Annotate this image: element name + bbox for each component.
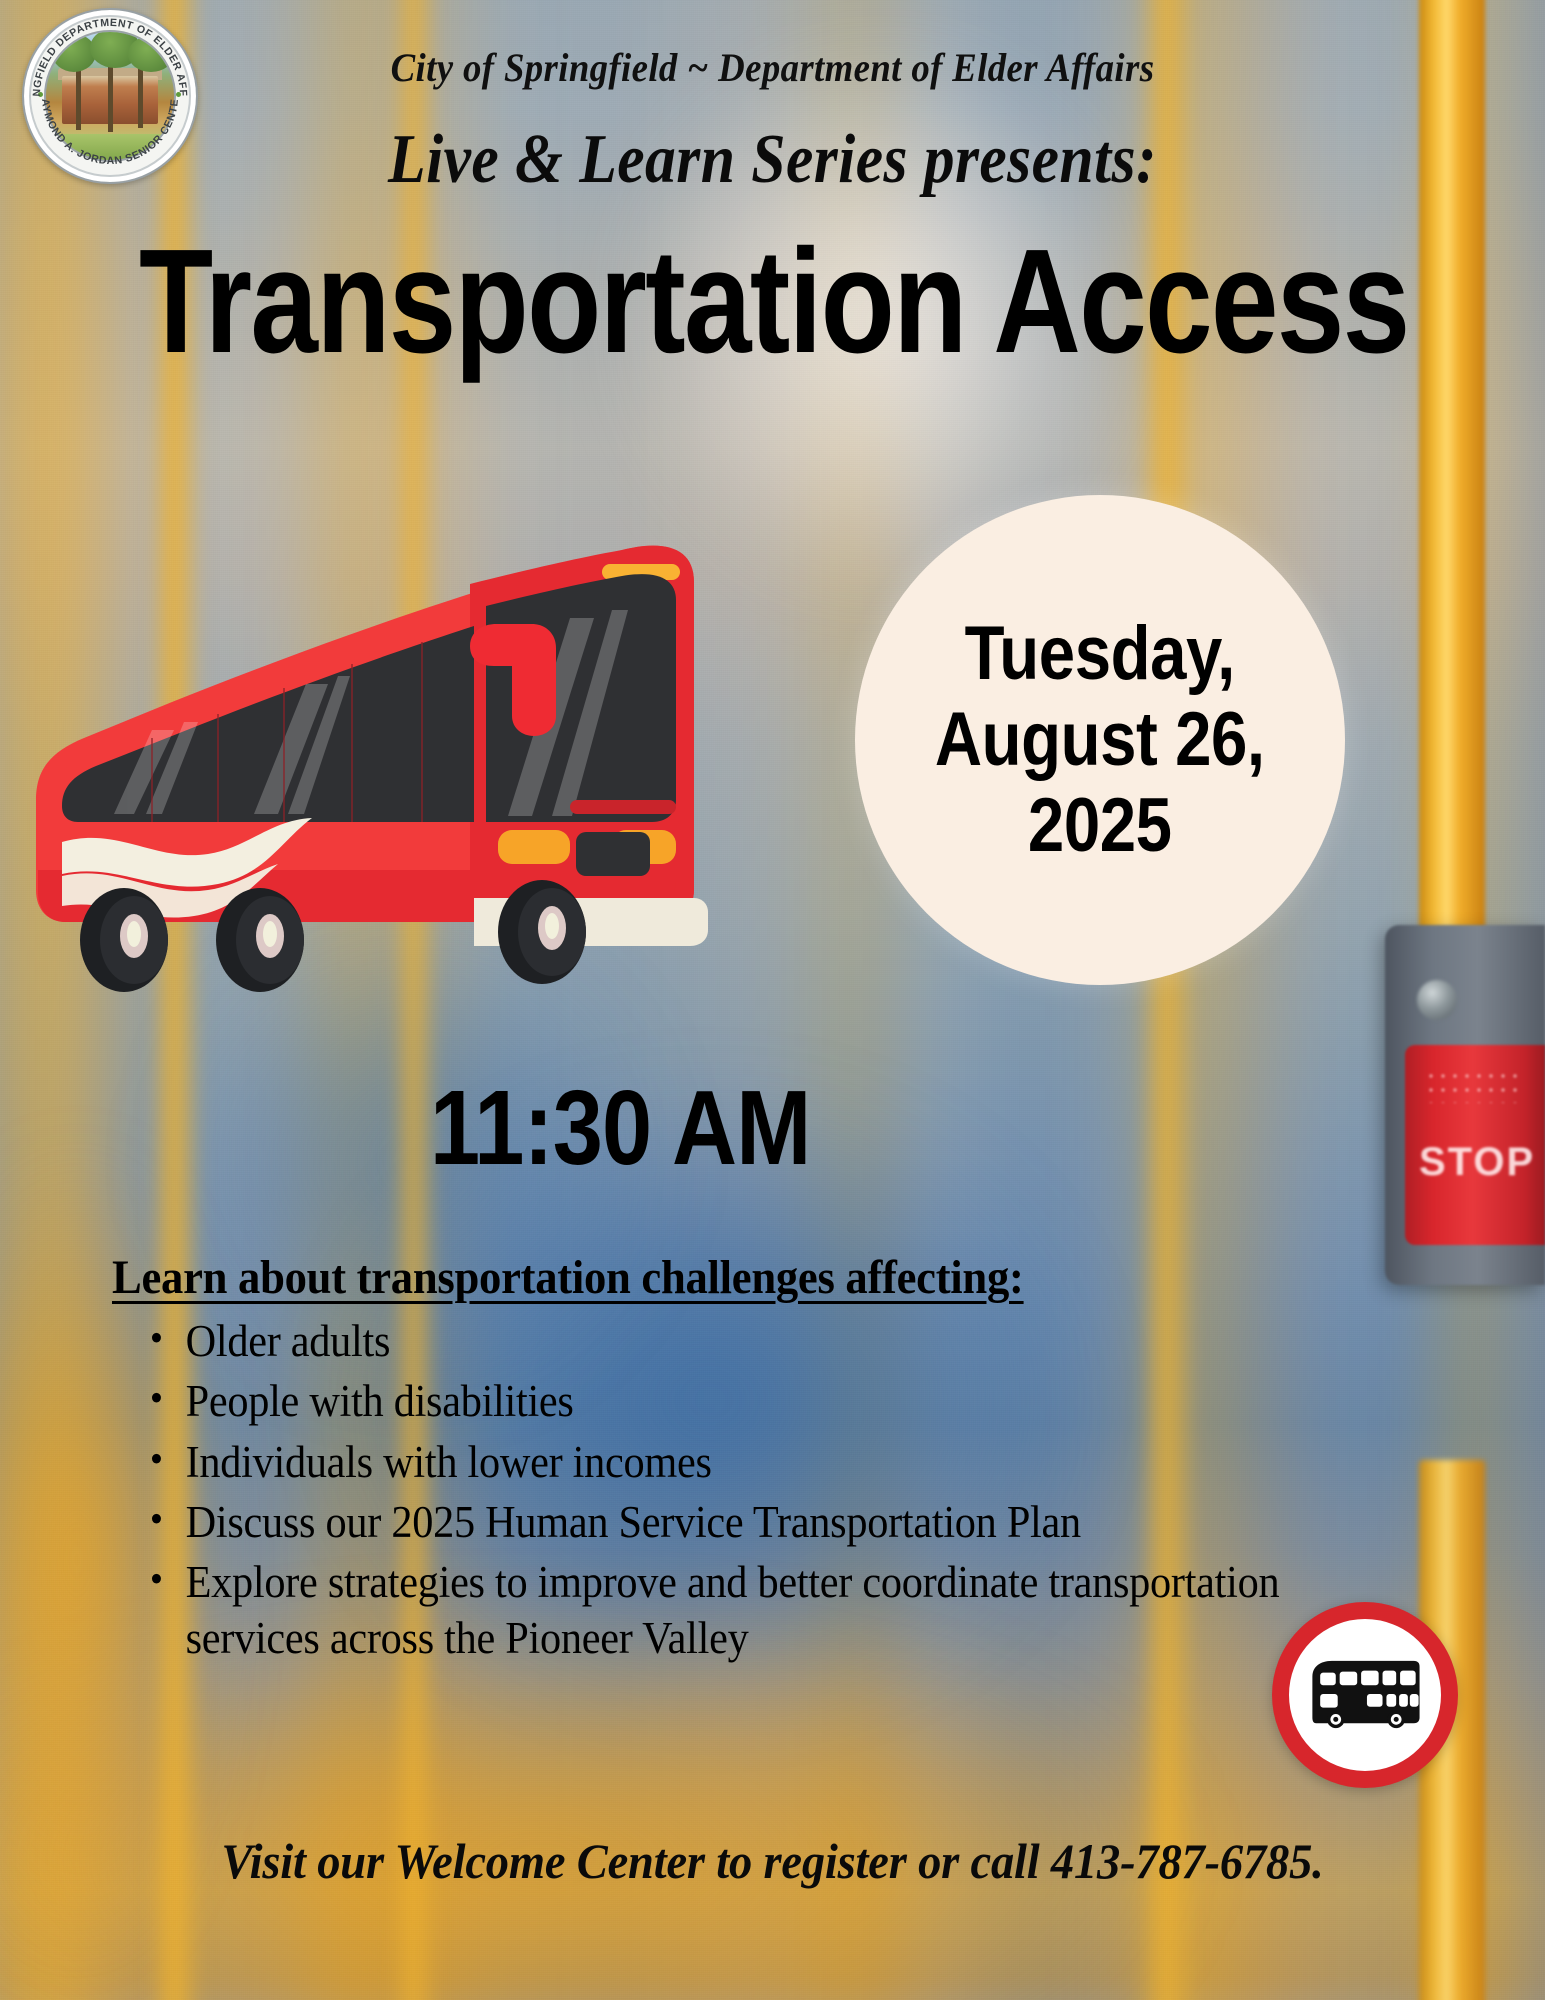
braille-dots (1425, 1069, 1521, 1103)
list-item: Explore strategies to improve and better… (148, 1554, 1336, 1667)
organization-line: City of Springfield ~ Department of Elde… (62, 44, 1483, 91)
body-content: Learn about transportation challenges af… (112, 1250, 1412, 1671)
bus-illustration (22, 470, 882, 1050)
bullet-list: Older adults People with disabilities In… (112, 1313, 1412, 1667)
double-decker-bus-icon (1306, 1657, 1424, 1733)
stop-request-button[interactable]: STOP (1405, 1045, 1545, 1245)
flyer-poster: STOP SPRINGFIELD DEPARTMENT OF ELDER AFF… (0, 0, 1545, 2000)
list-item: Older adults (148, 1313, 1336, 1369)
list-item: Individuals with lower incomes (148, 1434, 1336, 1490)
event-date-badge: Tuesday, August 26, 2025 (855, 495, 1345, 985)
bus-headlight-left (498, 830, 570, 864)
stanchion-screw-icon (1417, 980, 1457, 1020)
bus-hood-line (570, 800, 676, 814)
stop-button-label: STOP (1419, 1140, 1535, 1185)
bus-illustration-svg (22, 470, 882, 1050)
body-heading: Learn about transportation challenges af… (112, 1250, 1321, 1305)
series-line: Live & Learn Series presents: (93, 120, 1453, 200)
bus-sign-badge (1272, 1602, 1458, 1788)
list-item: Discuss our 2025 Human Service Transport… (148, 1494, 1336, 1550)
list-item: People with disabilities (148, 1373, 1336, 1429)
registration-footer: Visit our Welcome Center to register or … (54, 1832, 1491, 1890)
event-time: 11:30 AM (430, 1075, 810, 1181)
page-title: Transportation Access (139, 228, 1406, 376)
bus-grille (576, 832, 650, 876)
event-date-text: Tuesday, August 26, 2025 (935, 611, 1265, 869)
